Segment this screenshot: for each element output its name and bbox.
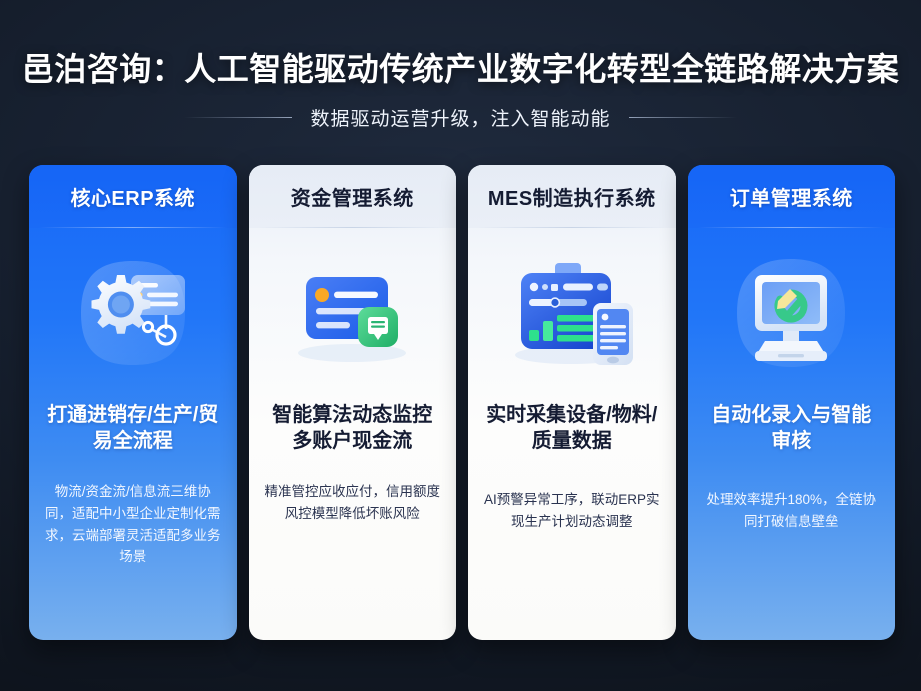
slide-header: 邑泊咨询：人工智能驱动传统产业数字化转型全链路解决方案 数据驱动运营升级，注入智… bbox=[0, 0, 921, 150]
divider-line-left bbox=[184, 117, 292, 118]
card-headline: 实时采集设备/物料/质量数据 bbox=[484, 402, 660, 455]
gear-settings-icon bbox=[29, 238, 237, 388]
card-core-erp[interactable]: 核心ERP系统 bbox=[29, 165, 237, 640]
slide-canvas: 邑泊咨询：人工智能驱动传统产业数字化转型全链路解决方案 数据驱动运营升级，注入智… bbox=[0, 0, 921, 691]
desktop-approval-icon bbox=[688, 238, 896, 388]
page-title: 邑泊咨询：人工智能驱动传统产业数字化转型全链路解决方案 bbox=[0, 44, 921, 90]
card-title: 资金管理系统 bbox=[291, 182, 414, 211]
card-headline: 自动化录入与智能审核 bbox=[703, 402, 879, 455]
card-description: 处理效率提升180%，全链协同打破信息壁垒 bbox=[701, 489, 881, 533]
card-headline: 打通进销存/生产/贸易全流程 bbox=[45, 402, 221, 455]
card-mes-system[interactable]: MES制造执行系统 bbox=[468, 165, 676, 640]
page-subtitle: 数据驱动运营升级，注入智能动能 bbox=[310, 104, 610, 131]
card-title: 核心ERP系统 bbox=[70, 182, 195, 211]
card-title: 订单管理系统 bbox=[730, 182, 853, 211]
divider-line-right bbox=[629, 117, 737, 118]
card-header: MES制造执行系统 bbox=[468, 165, 676, 228]
card-header: 资金管理系统 bbox=[249, 165, 457, 228]
card-description: 精准管控应收应付，信用额度风控模型降低坏账风险 bbox=[262, 481, 442, 525]
card-description: AI预警异常工序，联动ERP实现生产计划动态调整 bbox=[482, 489, 662, 533]
card-headline: 智能算法动态监控多账户现金流 bbox=[264, 402, 440, 455]
device-terminal-icon bbox=[468, 238, 676, 388]
card-order-management[interactable]: 订单管理系统 bbox=[688, 165, 896, 640]
card-description: 物流/资金流/信息流三维协同，适配中小型企业定制化需求，云端部署灵活适配多业务场… bbox=[43, 481, 223, 568]
finance-card-icon bbox=[249, 238, 457, 388]
card-header: 核心ERP系统 bbox=[29, 165, 237, 228]
card-list: 核心ERP系统 bbox=[29, 165, 895, 640]
card-header: 订单管理系统 bbox=[688, 165, 896, 228]
subtitle-row: 数据驱动运营升级，注入智能动能 bbox=[0, 104, 921, 131]
card-title: MES制造执行系统 bbox=[488, 182, 656, 211]
card-fund-management[interactable]: 资金管理系统 bbox=[249, 165, 457, 640]
